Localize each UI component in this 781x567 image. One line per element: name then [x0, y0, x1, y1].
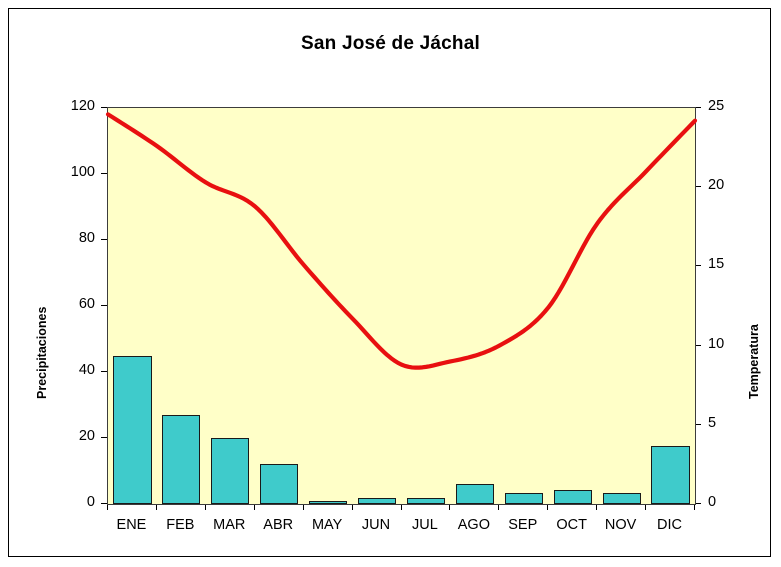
bar-may	[309, 501, 347, 504]
chart-frame: San José de Jáchal Precipitaciones Tempe…	[8, 8, 771, 557]
y-axis-left-tick-label: 20	[49, 428, 95, 444]
y-axis-right-tick-label: 15	[708, 256, 754, 272]
bar-mar	[211, 438, 249, 504]
y-axis-right-tick-label: 25	[708, 98, 754, 114]
y-axis-left-tick-label: 0	[49, 494, 95, 510]
bar-ene	[113, 356, 151, 505]
bar-sep	[505, 493, 543, 504]
y-axis-left-tick-label: 80	[49, 230, 95, 246]
y-axis-right-tick-label: 20	[708, 177, 754, 193]
y-axis-left-tick-label: 40	[49, 362, 95, 378]
bar-nov	[603, 493, 641, 504]
bar-feb	[162, 415, 200, 504]
bar-dic	[651, 446, 689, 504]
y-axis-left-tick-label: 60	[49, 296, 95, 312]
y-axis-right-tick-label: 10	[708, 336, 754, 352]
x-axis-month-label: DIC	[640, 517, 700, 533]
y-axis-left-tick-label: 120	[49, 98, 95, 114]
bar-abr	[260, 464, 298, 504]
y-axis-right-tick-label: 5	[708, 415, 754, 431]
y-axis-right-tick-label: 0	[708, 494, 754, 510]
plot-inner	[108, 108, 695, 504]
chart-title: San José de Jáchal	[9, 33, 772, 55]
plot-area	[107, 107, 696, 505]
bar-oct	[554, 490, 592, 504]
y-axis-left-label: Precipitaciones	[35, 307, 49, 399]
bar-ago	[456, 484, 494, 504]
temperature-line	[108, 114, 695, 367]
bar-jul	[407, 498, 445, 504]
bar-jun	[358, 498, 396, 504]
y-axis-left-tick-label: 100	[49, 164, 95, 180]
